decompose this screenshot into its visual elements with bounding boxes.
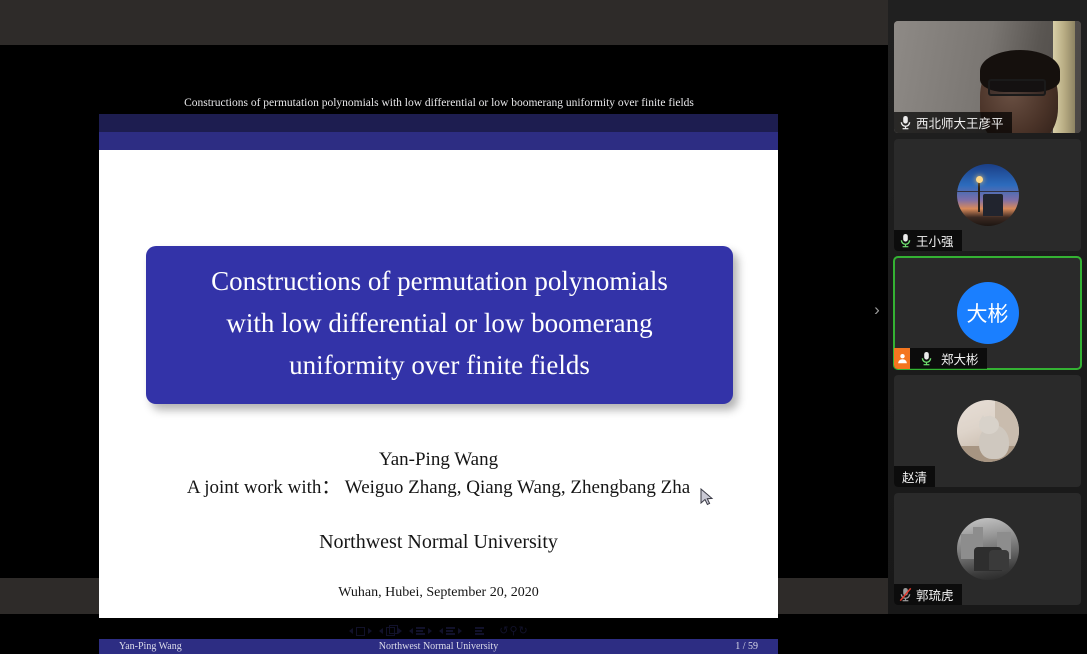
affiliation: Northwest Normal University <box>99 528 778 556</box>
slide-band-light <box>99 132 778 150</box>
participant-tile[interactable]: 王小强 <box>894 139 1081 251</box>
slide-title-card: Constructions of permutation polynomials… <box>146 246 733 404</box>
forward-icon[interactable]: ↻ <box>519 626 528 637</box>
participant-namebar: 西北师大王彦平 <box>894 112 1012 133</box>
section-current-icon[interactable] <box>446 627 455 634</box>
slide-author-block: Yan-Ping Wang A joint work with： Weiguo … <box>99 446 778 604</box>
participant-video-panel: 西北师大王彦平 王小强 <box>888 0 1087 614</box>
chevron-right-icon[interactable]: › <box>869 300 885 320</box>
participant-tile[interactable]: 赵清 <box>894 375 1081 487</box>
slide-current-icon[interactable] <box>356 627 365 636</box>
slide-prev-icon[interactable] <box>349 628 353 634</box>
beamer-navigation-bar[interactable]: ↺ ⚲ ↻ <box>99 623 778 639</box>
mic-on-icon <box>899 233 912 248</box>
subsection-current-icon[interactable] <box>416 627 425 634</box>
venue-date: Wuhan, Hubei, September 20, 2020 <box>99 582 778 604</box>
slide-nav-group[interactable] <box>349 627 372 636</box>
mic-on-icon <box>899 115 912 130</box>
participant-tile-active[interactable]: 大彬 郑大彬 <box>894 257 1081 369</box>
participant-namebar: 郭琉虎 <box>894 584 962 605</box>
mic-muted-icon <box>899 587 912 602</box>
section-prev-icon[interactable] <box>439 628 443 634</box>
participant-namebar: 王小强 <box>894 230 962 251</box>
frame-next-icon[interactable] <box>398 628 402 634</box>
footer-page-number: 1 / 59 <box>735 639 758 654</box>
slide-band-dark <box>99 114 778 132</box>
mic-on-icon <box>920 351 933 366</box>
subsection-nav-group[interactable] <box>409 627 432 634</box>
doc-icon[interactable] <box>475 627 484 634</box>
presentation-slide: Constructions of permutation polynomials… <box>99 114 778 618</box>
avatar <box>957 400 1019 462</box>
meeting-screen: Constructions of permutation polynomials… <box>0 0 1087 614</box>
search-icon[interactable]: ⚲ <box>509 626 517 637</box>
frame-current-icon[interactable] <box>386 627 395 636</box>
mouse-cursor <box>700 488 714 506</box>
slide-footer-bar: Yan-Ping Wang Northwest Normal Universit… <box>99 639 778 654</box>
participant-name: 赵清 <box>902 467 927 486</box>
slide-body: Constructions of permutation polynomials… <box>99 150 778 600</box>
participant-name: 郑大彬 <box>941 349 979 368</box>
participant-tile[interactable]: 西北师大王彦平 <box>894 21 1081 133</box>
avatar-initials: 大彬 <box>957 282 1019 344</box>
slide-title-line-1: Constructions of permutation polynomials <box>164 260 715 302</box>
participant-name: 王小强 <box>916 231 954 250</box>
slide-title-line-3: uniformity over finite fields <box>164 344 715 386</box>
avatar <box>957 518 1019 580</box>
participant-name: 西北师大王彦平 <box>916 113 1004 132</box>
joint-work-line: A joint work with： Weiguo Zhang, Qiang W… <box>99 474 778 501</box>
subsection-prev-icon[interactable] <box>409 628 413 634</box>
frame-nav-group[interactable] <box>379 627 402 636</box>
presenter-name: Yan-Ping Wang <box>99 446 778 473</box>
avatar <box>957 164 1019 226</box>
subsection-next-icon[interactable] <box>428 628 432 634</box>
frame-prev-icon[interactable] <box>379 628 383 634</box>
slide-next-icon[interactable] <box>368 628 372 634</box>
slide-running-header: Constructions of permutation polynomials… <box>99 95 779 112</box>
participant-name: 郭琉虎 <box>916 585 954 604</box>
avatar-initials-text: 大彬 <box>967 298 1009 328</box>
participant-tile[interactable]: 郭琉虎 <box>894 493 1081 605</box>
participant-namebar: 郑大彬 <box>894 348 987 369</box>
back-icon[interactable]: ↺ <box>499 626 508 637</box>
section-nav-group[interactable] <box>439 627 462 634</box>
slide-title-line-2: with low differential or low boomerang <box>164 302 715 344</box>
screen-share-area: Constructions of permutation polynomials… <box>0 45 888 578</box>
footer-institution: Northwest Normal University <box>99 639 778 654</box>
document-nav-group[interactable] <box>475 627 484 634</box>
section-next-icon[interactable] <box>458 628 462 634</box>
participant-namebar: 赵清 <box>894 466 935 487</box>
history-nav-group[interactable]: ↺ ⚲ ↻ <box>499 626 528 637</box>
host-person-icon <box>894 348 910 369</box>
